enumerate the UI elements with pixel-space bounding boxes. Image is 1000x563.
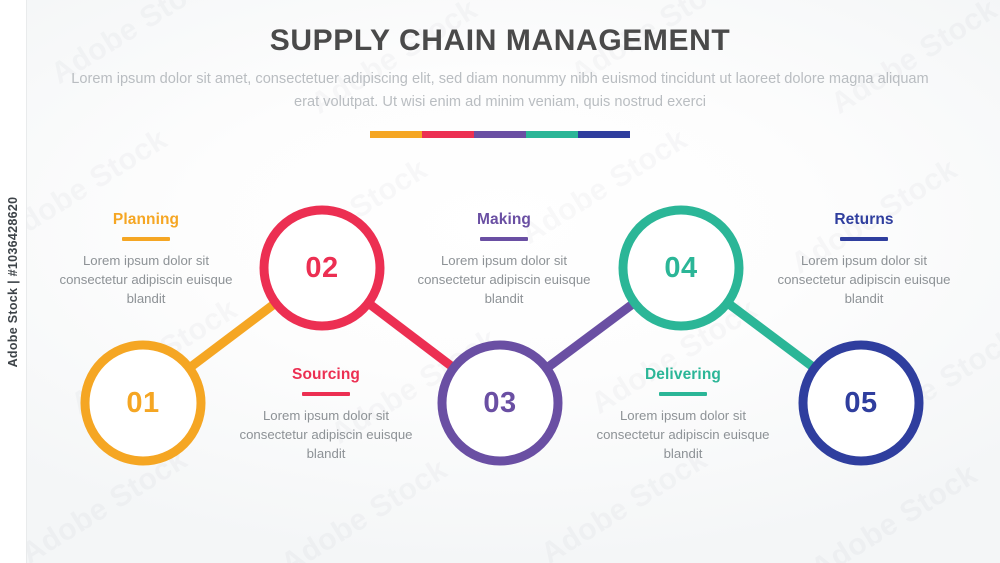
header: SUPPLY CHAIN MANAGEMENT Lorem ipsum dolo… xyxy=(0,0,1000,113)
node-rule-03 xyxy=(480,237,528,241)
connector-01-to-02 xyxy=(188,302,278,370)
divider-segment-5 xyxy=(578,131,630,138)
node-text-02: SourcingLorem ipsum dolor sit consectetu… xyxy=(233,366,419,463)
node-rule-05 xyxy=(840,237,888,241)
divider-segment-2 xyxy=(422,131,474,138)
credit-strip: Adobe Stock | #1036428620 xyxy=(0,0,27,563)
node-circle-02[interactable]: 02 xyxy=(264,210,380,326)
divider-segment-4 xyxy=(526,131,578,138)
node-circle-05[interactable]: 05 xyxy=(803,345,919,461)
node-rule-01 xyxy=(122,237,170,241)
connector-03-to-04 xyxy=(545,301,636,369)
node-circle-04[interactable]: 04 xyxy=(623,210,739,326)
infographic-canvas: Adobe StockAdobe StockAdobe StockAdobe S… xyxy=(0,0,1000,563)
node-text-01: PlanningLorem ipsum dolor sit consectetu… xyxy=(53,211,239,308)
connector-02-to-03 xyxy=(367,302,456,369)
node-body-02: Lorem ipsum dolor sit consectetur adipis… xyxy=(233,406,419,463)
node-text-05: ReturnsLorem ipsum dolor sit consectetur… xyxy=(771,211,957,308)
color-divider xyxy=(370,131,630,138)
page-title: SUPPLY CHAIN MANAGEMENT xyxy=(0,24,1000,58)
node-title-01: Planning xyxy=(53,211,239,228)
node-rule-02 xyxy=(302,392,350,396)
node-body-03: Lorem ipsum dolor sit consectetur adipis… xyxy=(411,251,597,308)
node-circle-01[interactable]: 01 xyxy=(85,345,201,461)
page-subtitle: Lorem ipsum dolor sit amet, consectetuer… xyxy=(70,68,930,113)
divider-segment-1 xyxy=(370,131,422,138)
node-text-04: DeliveringLorem ipsum dolor sit consecte… xyxy=(590,366,776,463)
connector-04-to-05 xyxy=(726,302,816,370)
node-text-03: MakingLorem ipsum dolor sit consectetur … xyxy=(411,211,597,308)
node-rule-04 xyxy=(659,392,707,396)
node-circle-03[interactable]: 03 xyxy=(442,345,558,461)
node-title-05: Returns xyxy=(771,211,957,228)
node-number-04: 04 xyxy=(664,252,697,284)
node-number-05: 05 xyxy=(844,387,877,419)
divider-segment-3 xyxy=(474,131,526,138)
node-title-02: Sourcing xyxy=(233,366,419,383)
node-number-03: 03 xyxy=(483,387,516,419)
node-number-02: 02 xyxy=(305,252,338,284)
node-body-04: Lorem ipsum dolor sit consectetur adipis… xyxy=(590,406,776,463)
node-title-04: Delivering xyxy=(590,366,776,383)
node-body-05: Lorem ipsum dolor sit consectetur adipis… xyxy=(771,251,957,308)
credit-label: Adobe Stock | #1036428620 xyxy=(6,196,20,367)
node-number-01: 01 xyxy=(126,387,159,419)
node-title-03: Making xyxy=(411,211,597,228)
node-body-01: Lorem ipsum dolor sit consectetur adipis… xyxy=(53,251,239,308)
